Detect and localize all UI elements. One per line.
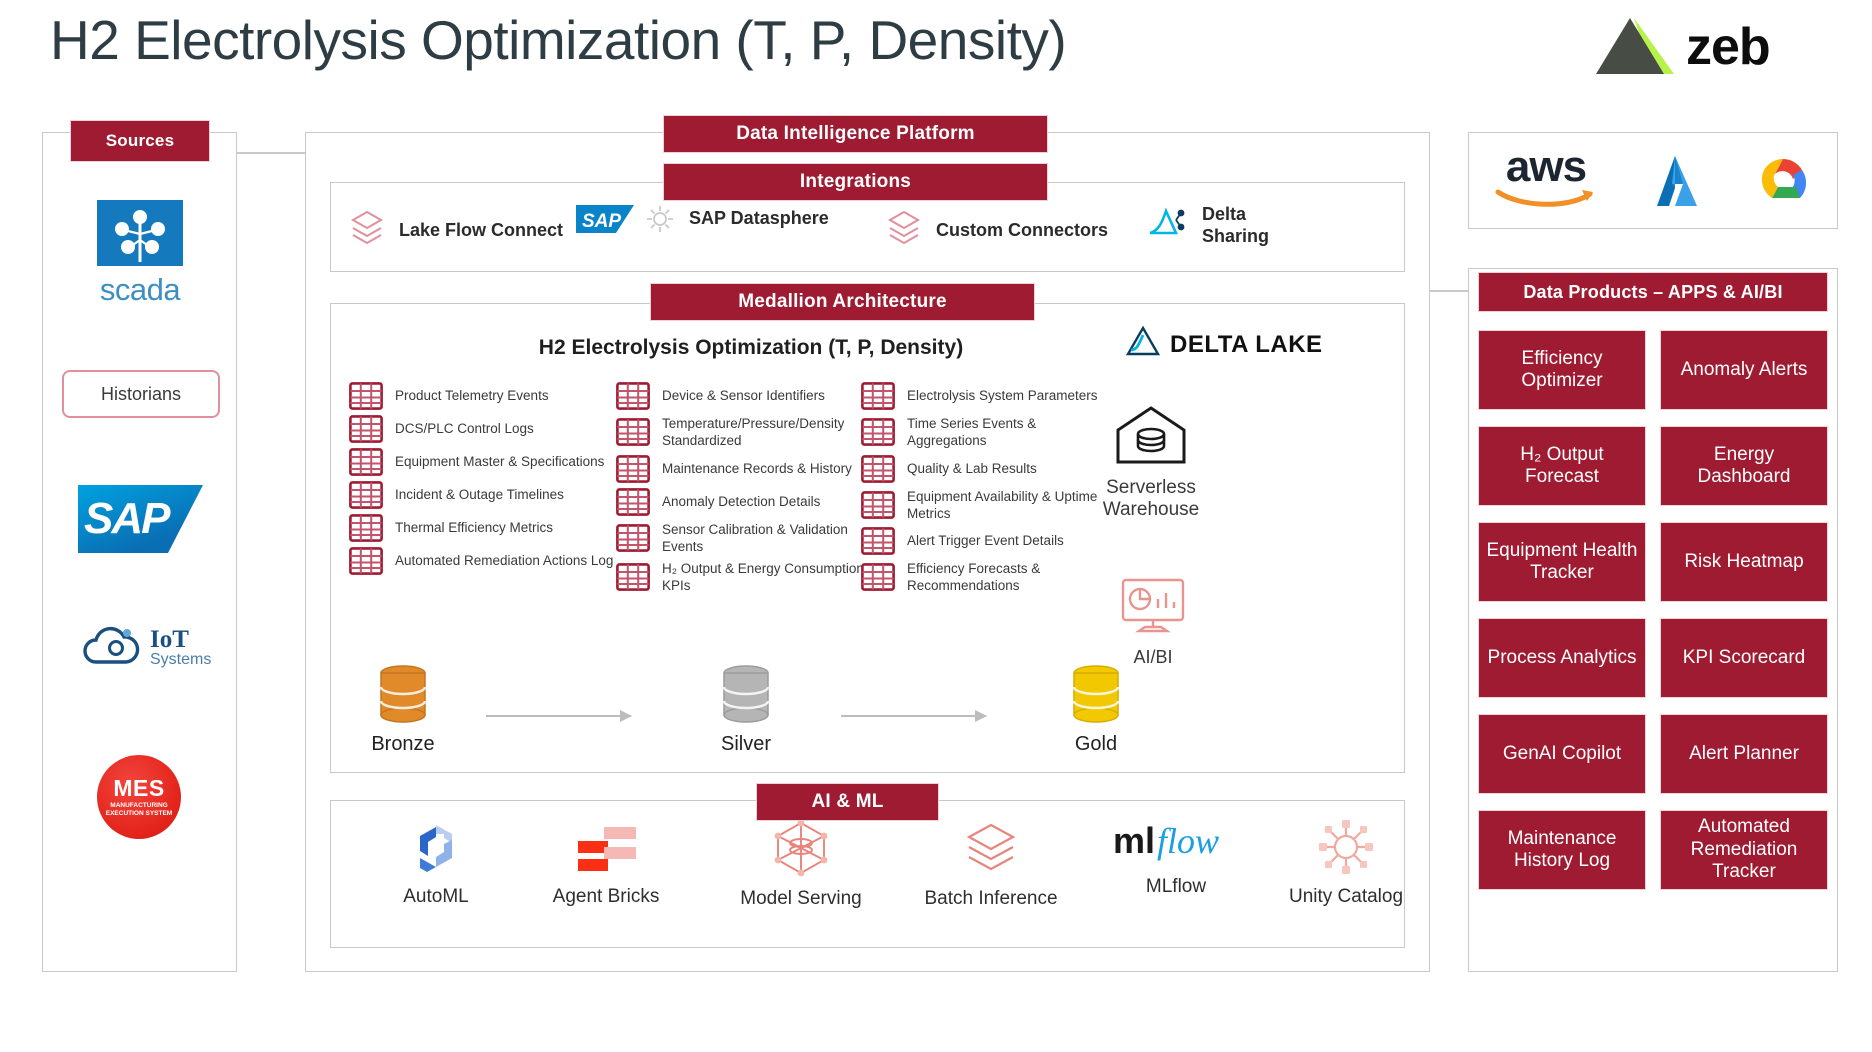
zeb-logo: zeb [1590, 16, 1770, 78]
table-icon [616, 524, 650, 552]
aiml-label: MLflow [1081, 876, 1271, 898]
data-product-card[interactable]: Alert Planner [1660, 714, 1828, 794]
table-label: Maintenance Records & History [662, 460, 852, 477]
table-row[interactable]: Alert Trigger Event Details [861, 527, 1111, 555]
data-products-grid: Efficiency OptimizerAnomaly AlertsH₂ Out… [1478, 330, 1828, 890]
table-row[interactable]: Incident & Outage Timelines [349, 481, 614, 509]
table-icon [861, 455, 895, 483]
warehouse-icon [1114, 455, 1188, 472]
medallion-architecture-badge: Medallion Architecture [650, 283, 1035, 321]
medallion-tier-bronze: Bronze [343, 664, 463, 756]
page-title: H2 Electrolysis Optimization (T, P, Dens… [50, 8, 1066, 72]
aws-label: aws [1491, 148, 1601, 185]
gold-cylinder-icon [1064, 664, 1128, 726]
data-product-card[interactable]: KPI Scorecard [1660, 618, 1828, 698]
table-icon [861, 382, 895, 410]
silver-label: Silver [686, 733, 806, 756]
data-product-card[interactable]: Risk Heatmap [1660, 522, 1828, 602]
table-label: Alert Trigger Event Details [907, 532, 1064, 549]
table-icon [616, 563, 650, 591]
delta-lake-logo: DELTA LAKE [1126, 326, 1323, 363]
table-row[interactable]: Sensor Calibration & Validation Events [616, 521, 876, 556]
aws-smile-icon [1494, 186, 1598, 208]
table-icon [861, 491, 895, 519]
aiml-unity-catalog[interactable]: Unity Catalog [1251, 819, 1441, 908]
table-row[interactable]: Anomaly Detection Details [616, 488, 876, 516]
mes-label: MES [113, 777, 164, 800]
batch-inference-icon [963, 864, 1019, 881]
data-products-badge: Data Products – APPS & AI/BI [1478, 272, 1828, 312]
scada-icon [97, 200, 183, 266]
data-product-card[interactable]: GenAI Copilot [1478, 714, 1646, 794]
iot-cloud-icon [76, 620, 146, 675]
table-label: Sensor Calibration & Validation Events [662, 521, 876, 556]
aiml-agent-bricks[interactable]: Agent Bricks [511, 819, 701, 908]
aiml-label: AutoML [361, 886, 511, 908]
svg-text:SAP: SAP [582, 211, 621, 232]
table-row[interactable]: H₂ Output & Energy Consumption KPIs [616, 560, 876, 595]
source-logo-mes: MES MANUFACTURING EXECUTION SYSTEM [97, 755, 181, 839]
aiml-batch-inference[interactable]: Batch Inference [896, 819, 1086, 910]
table-label: Product Telemetry Events [395, 387, 549, 404]
ai-ml-badge: AI & ML [756, 783, 939, 821]
historians-label: Historians [101, 384, 181, 405]
aiml-automl[interactable]: AutoML [361, 819, 511, 908]
integration-sap-datasphere[interactable]: SAP SAP Datasphere [576, 201, 829, 237]
integration-custom-connectors[interactable]: Custom Connectors [886, 209, 1108, 252]
table-label: Automated Remediation Actions Log [395, 552, 613, 569]
table-row[interactable]: Automated Remediation Actions Log [349, 547, 614, 575]
aiml-label: Batch Inference [896, 888, 1086, 910]
mlflow-logo: ml flow [1111, 852, 1241, 869]
data-product-card[interactable]: Anomaly Alerts [1660, 330, 1828, 410]
flow-arrow-silver-gold [841, 715, 986, 717]
silver-cylinder-icon [714, 664, 778, 726]
table-row[interactable]: Equipment Master & Specifications [349, 448, 614, 476]
table-icon [861, 527, 895, 555]
table-icon [349, 382, 383, 410]
table-row[interactable]: DCS/PLC Control Logs [349, 415, 614, 443]
medallion-architecture-box: H2 Electrolysis Optimization (T, P, Dens… [330, 303, 1405, 773]
aws-logo: aws [1491, 148, 1601, 212]
integration-delta-sharing[interactable]: Delta Sharing [1146, 203, 1292, 248]
bronze-cylinder-icon [371, 664, 435, 726]
table-icon [349, 547, 383, 575]
table-icon [349, 415, 383, 443]
table-icon [349, 514, 383, 542]
integration-label: Delta Sharing [1202, 204, 1292, 247]
data-intelligence-platform-badge: Data Intelligence Platform [663, 115, 1048, 153]
source-logo-iot: IoT Systems [76, 620, 216, 675]
scada-label: scada [80, 272, 200, 308]
medallion-tier-silver: Silver [686, 664, 806, 756]
table-icon [616, 382, 650, 410]
table-label: Anomaly Detection Details [662, 493, 820, 510]
table-icon [349, 481, 383, 509]
table-icon [861, 563, 895, 591]
aiml-mlflow[interactable]: ml flow MLflow [1081, 819, 1271, 898]
gold-label: Gold [1036, 733, 1156, 756]
sap-icon: SAP [78, 485, 203, 553]
azure-logo [1645, 150, 1707, 212]
source-logo-sap: SAP [78, 485, 203, 553]
layers-icon [349, 209, 385, 252]
table-label: Thermal Efficiency Metrics [395, 519, 553, 536]
table-icon [616, 418, 650, 446]
aiml-model-serving[interactable]: Model Serving [706, 819, 896, 910]
table-row[interactable]: Product Telemetry Events [349, 382, 614, 410]
aiml-label: Unity Catalog [1251, 886, 1441, 908]
data-product-card[interactable]: Energy Dashboard [1660, 426, 1828, 506]
connector-sources-platform [237, 152, 307, 154]
sap-label: SAP [84, 494, 168, 544]
data-product-card[interactable]: Automated Remediation Tracker [1660, 810, 1828, 890]
agent-bricks-icon [570, 862, 642, 879]
table-label: Quality & Lab Results [907, 460, 1037, 477]
table-row[interactable]: Thermal Efficiency Metrics [349, 514, 614, 542]
sources-badge: Sources [70, 120, 210, 162]
mes-sublabel: MANUFACTURING EXECUTION SYSTEM [97, 802, 181, 817]
table-row[interactable]: Quality & Lab Results [861, 455, 1111, 483]
aibi-block: AI/BI [1083, 574, 1223, 668]
iot-sublabel: Systems [150, 652, 211, 668]
table-label: DCS/PLC Control Logs [395, 420, 534, 437]
table-icon [861, 418, 895, 446]
aiml-label: Agent Bricks [511, 886, 701, 908]
ai-ml-box: AutoML Agent Bricks [330, 800, 1405, 948]
medallion-subtitle: H2 Electrolysis Optimization (T, P, Dens… [331, 336, 1171, 360]
table-row[interactable]: Efficiency Forecasts & Recommendations [861, 560, 1111, 595]
bronze-label: Bronze [343, 733, 463, 756]
table-label: Electrolysis System Parameters [907, 387, 1098, 404]
integration-label: Custom Connectors [936, 220, 1108, 242]
data-product-card[interactable]: Efficiency Optimizer [1478, 330, 1646, 410]
table-row[interactable]: Equipment Availability & Uptime Metrics [861, 488, 1111, 523]
integrations-badge: Integrations [663, 163, 1048, 201]
aibi-dashboard-icon [1117, 625, 1189, 642]
serverless-warehouse-label: Serverless Warehouse [1076, 477, 1226, 522]
table-label: Equipment Master & Specifications [395, 453, 604, 470]
zeb-wordmark: zeb [1686, 21, 1770, 73]
table-label: Temperature/Pressure/Density Standardize… [662, 415, 876, 450]
svg-text:flow: flow [1157, 821, 1219, 861]
table-row[interactable]: Device & Sensor Identifiers [616, 382, 876, 410]
data-product-card[interactable]: H₂ Output Forecast [1478, 426, 1646, 506]
table-label: Incident & Outage Timelines [395, 486, 564, 503]
table-row[interactable]: Temperature/Pressure/Density Standardize… [616, 415, 876, 450]
delta-sharing-icon [1146, 203, 1188, 248]
source-logo-scada: scada [80, 200, 200, 308]
table-label: Device & Sensor Identifiers [662, 387, 825, 404]
table-row[interactable]: Time Series Events & Aggregations [861, 415, 1111, 450]
table-label: H₂ Output & Energy Consumption KPIs [662, 560, 876, 595]
google-cloud-logo [1751, 149, 1815, 213]
data-product-card[interactable]: Equipment Health Tracker [1478, 522, 1646, 602]
unity-catalog-icon [1317, 862, 1375, 879]
integration-label-text: SAP Datasphere [689, 208, 829, 230]
table-row[interactable]: Electrolysis System Parameters [861, 382, 1111, 410]
page-header: H2 Electrolysis Optimization (T, P, Dens… [0, 0, 1872, 100]
iot-label: IoT [150, 627, 211, 652]
connector-platform-products [1430, 290, 1470, 292]
data-product-card[interactable]: Maintenance History Log [1478, 810, 1646, 890]
integration-lake-flow-connect[interactable]: Lake Flow Connect [349, 209, 563, 252]
table-icon [616, 455, 650, 483]
layers-icon [886, 209, 922, 252]
delta-lake-label: DELTA LAKE [1170, 331, 1323, 359]
bronze-table-list: Product Telemetry EventsDCS/PLC Control … [349, 382, 614, 580]
sap-datasphere-icon: SAP [576, 201, 675, 237]
silver-table-list: Device & Sensor IdentifiersTemperature/P… [616, 382, 876, 600]
cloud-providers-panel: aws [1468, 132, 1838, 229]
integration-label: Lake Flow Connect [399, 220, 563, 242]
serverless-warehouse: Serverless Warehouse [1076, 404, 1226, 522]
table-icon [349, 448, 383, 476]
data-product-card[interactable]: Process Analytics [1478, 618, 1646, 698]
svg-text:ml: ml [1113, 820, 1155, 861]
flow-arrow-bronze-silver [486, 715, 631, 717]
table-label: Efficiency Forecasts & Recommendations [907, 560, 1111, 595]
integration-label: SAP Datasphere [689, 208, 829, 230]
zeb-triangle-logo-icon [1590, 16, 1676, 78]
automl-icon [408, 862, 464, 879]
medallion-tier-gold: Gold [1036, 664, 1156, 756]
model-serving-icon [770, 864, 832, 881]
aiml-label: Model Serving [706, 888, 896, 910]
table-icon [616, 488, 650, 516]
delta-lake-icon [1126, 326, 1160, 363]
gold-table-list: Electrolysis System ParametersTime Serie… [861, 382, 1111, 600]
table-row[interactable]: Maintenance Records & History [616, 455, 876, 483]
source-historians[interactable]: Historians [62, 370, 220, 418]
